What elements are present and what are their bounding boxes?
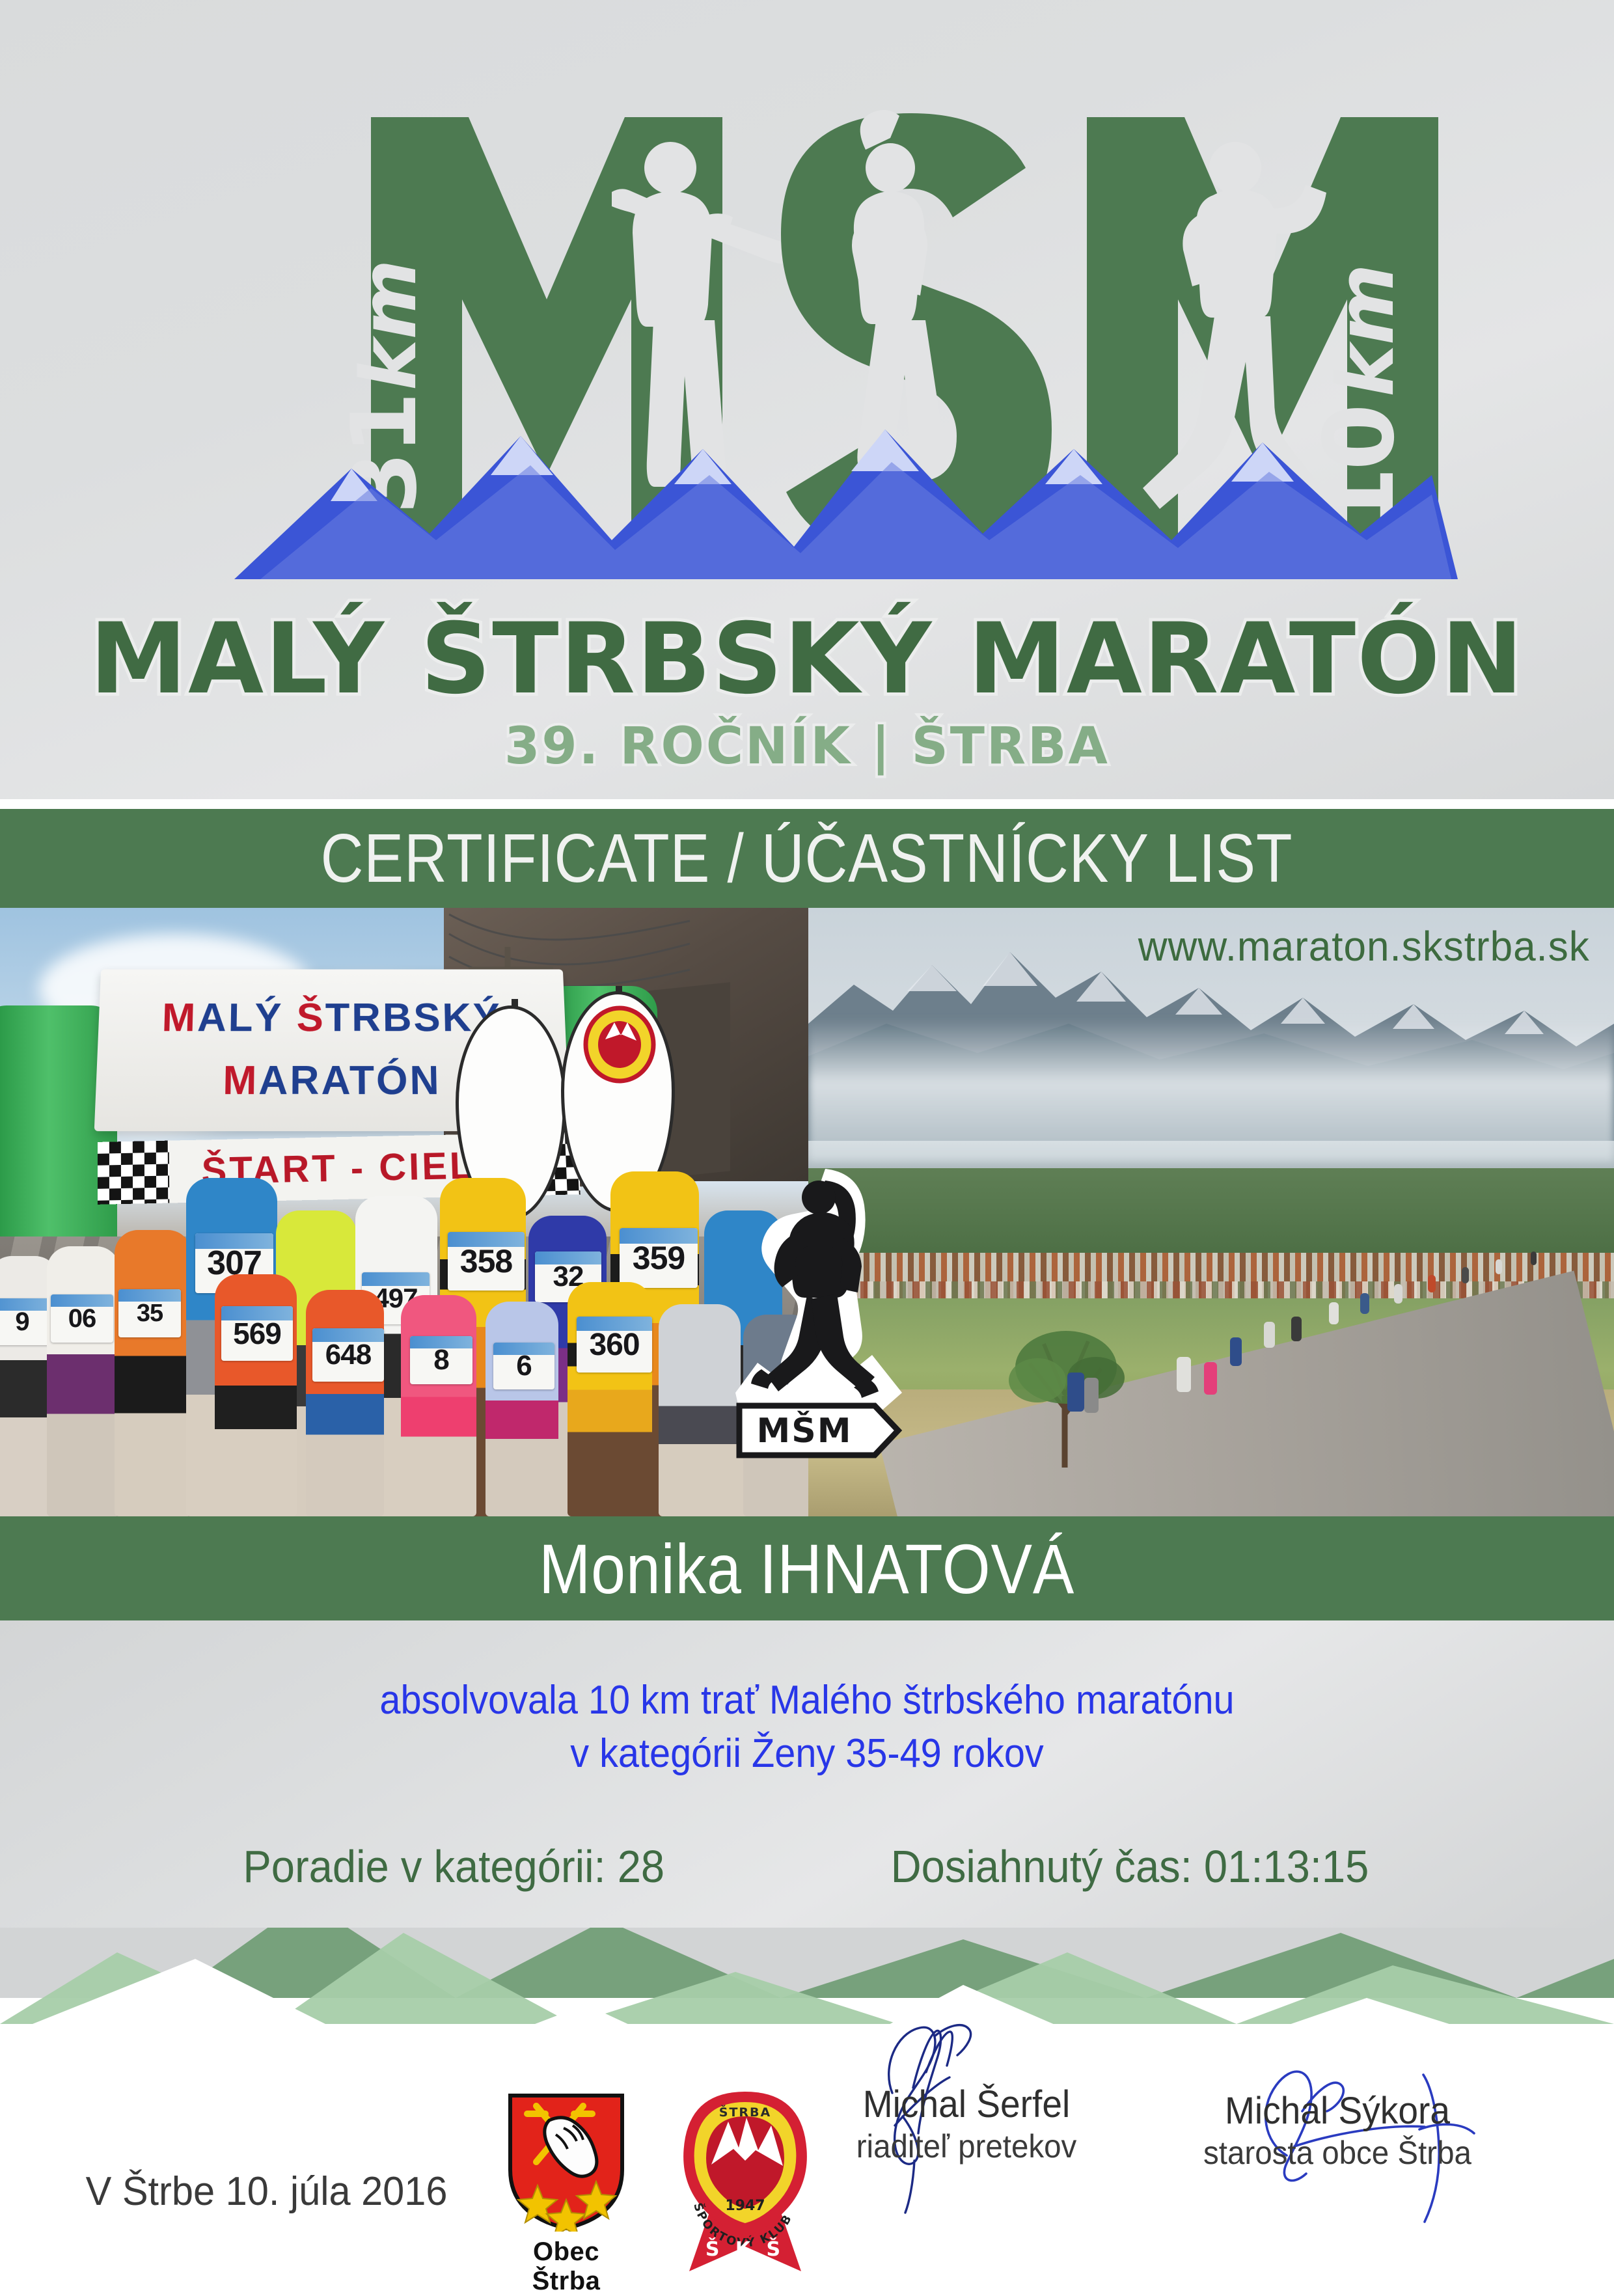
svg-text:km: km	[344, 260, 433, 390]
description-block: absolvovala 10 km trať Malého štrbského …	[0, 1620, 1614, 1781]
participant-name: Monika IHNATOVÁ	[539, 1528, 1074, 1609]
tree-icon	[1004, 1318, 1127, 1468]
bib-number: 569	[221, 1306, 293, 1361]
runner	[306, 1290, 384, 1516]
runner	[1394, 1284, 1402, 1304]
runner	[1428, 1275, 1436, 1292]
club-initials: Š K Š	[705, 2237, 785, 2261]
signature-name: Michal Šerfel	[825, 2083, 1109, 2126]
runner	[115, 1230, 191, 1516]
bib-number: 06	[51, 1294, 113, 1343]
signature-block-mayor: Michal Sýkora starosta obce Štrba	[1168, 2089, 1507, 2172]
club-badge-icon	[581, 1005, 659, 1084]
runner	[1084, 1378, 1099, 1413]
arch-banner-line2: MARATÓN	[223, 1058, 442, 1104]
description-line-1: absolvovala 10 km trať Malého štrbského …	[57, 1674, 1557, 1727]
msm-logo-svg: 31 km	[156, 20, 1458, 657]
svg-text:MŠM: MŠM	[757, 1410, 853, 1451]
description-line-2: v kategórii Ženy 35-49 rokov	[57, 1727, 1557, 1781]
bib-number: 35	[118, 1289, 181, 1337]
bib-number: 648	[312, 1328, 384, 1382]
hero-section: 31 km	[0, 0, 1614, 799]
bib-number: 6	[493, 1343, 554, 1389]
runner	[1177, 1357, 1191, 1392]
runner	[1531, 1251, 1537, 1265]
msm-runner-emblem: MŠM	[728, 1164, 910, 1469]
runner	[1496, 1259, 1502, 1274]
certificate-banner: CERTIFICATE / ÚČASTNÍCKY LIST	[0, 809, 1614, 908]
issue-date: V Štrbe 10. júla 2016	[86, 2168, 448, 2215]
club-emblem-icon: ŠTRBA 1947 ŠPORTOVÝ KLUB Š K Š	[674, 2088, 817, 2276]
checker-flag-icon	[98, 1141, 169, 1205]
signature-name: Michal Sýkora	[1177, 2089, 1498, 2133]
footer: V Štrbe 10. júla 2016	[0, 1985, 1614, 2283]
website-url: www.maraton.skstrba.sk	[1138, 922, 1590, 970]
sports-club-logo: ŠTRBA 1947 ŠPORTOVÝ KLUB Š K Š	[674, 2088, 817, 2276]
crest-caption: Obec Štrba	[501, 2237, 631, 2296]
bib-number: 9	[0, 1298, 52, 1345]
signature-block-director: Michal Šerfel riaditeľ pretekov	[817, 2083, 1116, 2165]
photo-race-start: MALÝ ŠTRBSKÝ MARATÓN ŠTART - CIEĽ	[0, 908, 808, 1516]
certificate-page: 31 km	[0, 0, 1614, 2283]
svg-text:km: km	[1321, 264, 1412, 397]
finish-time: Dosiahnutý čas: 01:13:15	[891, 1840, 1369, 1893]
bib-number: 359	[620, 1228, 698, 1288]
runner	[47, 1246, 120, 1516]
runner	[1264, 1322, 1275, 1348]
runner	[486, 1302, 558, 1516]
bib-number: 8	[410, 1336, 472, 1384]
signature-role: riaditeľ pretekov	[825, 2127, 1109, 2165]
coat-of-arms-icon	[501, 2092, 631, 2232]
certificate-banner-text: CERTIFICATE / ÚČASTNÍCKY LIST	[321, 819, 1293, 898]
msm-wordmark: MŠM	[739, 1406, 898, 1455]
title-block: MALÝ ŠTRBSKÝ MARATÓN 39. ROČNÍK | ŠTRBA	[0, 610, 1614, 776]
bib-number: 358	[448, 1232, 525, 1291]
photo-course-tatras: www.maraton.skstrba.sk	[808, 908, 1614, 1516]
runner	[1360, 1293, 1369, 1314]
club-top-text: ŠTRBA	[719, 2104, 771, 2120]
runner	[1329, 1302, 1339, 1324]
runner	[1462, 1267, 1469, 1283]
bib-number: 360	[577, 1317, 652, 1373]
runner	[1204, 1362, 1217, 1395]
page-subtitle: 39. ROČNÍK | ŠTRBA	[0, 717, 1614, 776]
runner	[1067, 1373, 1084, 1412]
cloud-band	[808, 1018, 1614, 1162]
arch-banner-line1: MALÝ ŠTRBSKÝ	[161, 995, 502, 1041]
result-section: absolvovala 10 km trať Malého štrbského …	[0, 1620, 1614, 1928]
club-year: 1947	[725, 2198, 765, 2214]
runner	[401, 1295, 476, 1516]
municipality-crest: Obec Štrba	[501, 2092, 631, 2267]
runner	[1230, 1337, 1242, 1366]
participant-name-banner: Monika IHNATOVÁ	[0, 1516, 1614, 1620]
runner	[1291, 1317, 1302, 1341]
category-rank: Poradie v kategórii: 28	[243, 1840, 664, 1893]
page-title: MALÝ ŠTRBSKÝ MARATÓN	[0, 610, 1614, 708]
signature-role: starosta obce Štrba	[1177, 2134, 1498, 2172]
results-row: Poradie v kategórii: 28 Dosiahnutý čas: …	[0, 1840, 1614, 1893]
